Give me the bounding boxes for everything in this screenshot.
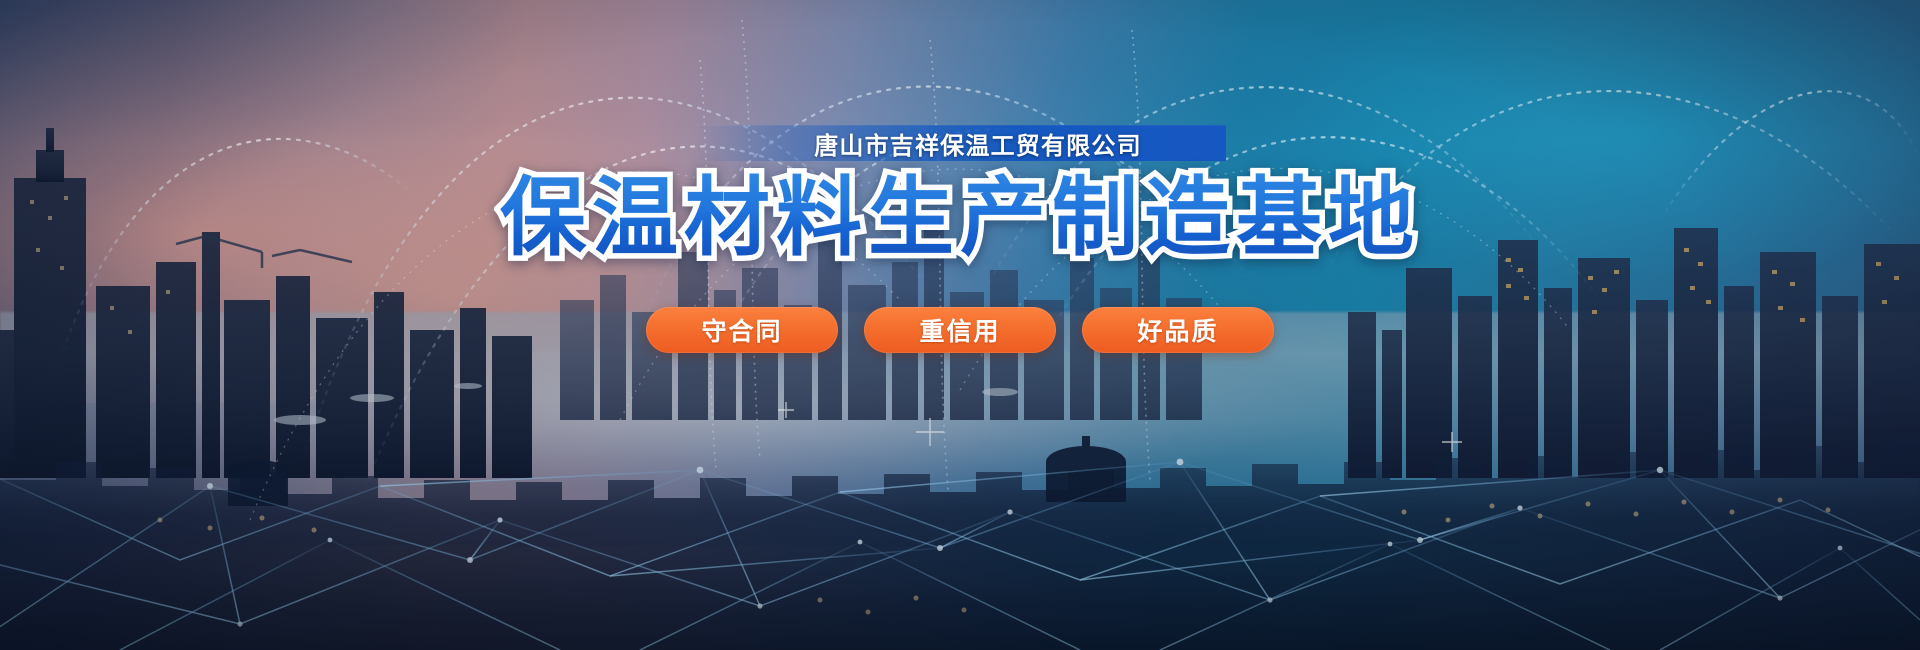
hero-banner: 唐山市吉祥保温工贸有限公司 保温材料生产制造基地 保温材料生产制造基地 守合同 …	[0, 0, 1920, 650]
badge-hao-pin-zhi[interactable]: 好品质	[1082, 307, 1274, 353]
company-name-bar: 唐山市吉祥保温工贸有限公司	[694, 125, 1226, 161]
badge-label: 守合同	[701, 312, 782, 348]
badge-zhong-xin-yong[interactable]: 重信用	[864, 307, 1056, 353]
badge-list: 守合同 重信用 好品质	[646, 307, 1274, 353]
headline-wrapper: 保温材料生产制造基地 保温材料生产制造基地	[500, 175, 1420, 261]
badge-shou-he-tong[interactable]: 守合同	[646, 307, 838, 353]
headline-text: 保温材料生产制造基地	[500, 170, 1420, 266]
company-name: 唐山市吉祥保温工贸有限公司	[814, 126, 1142, 161]
badge-label: 好品质	[1137, 312, 1218, 348]
banner-content: 唐山市吉祥保温工贸有限公司 保温材料生产制造基地 保温材料生产制造基地 守合同 …	[0, 0, 1920, 650]
badge-label: 重信用	[919, 312, 1000, 348]
